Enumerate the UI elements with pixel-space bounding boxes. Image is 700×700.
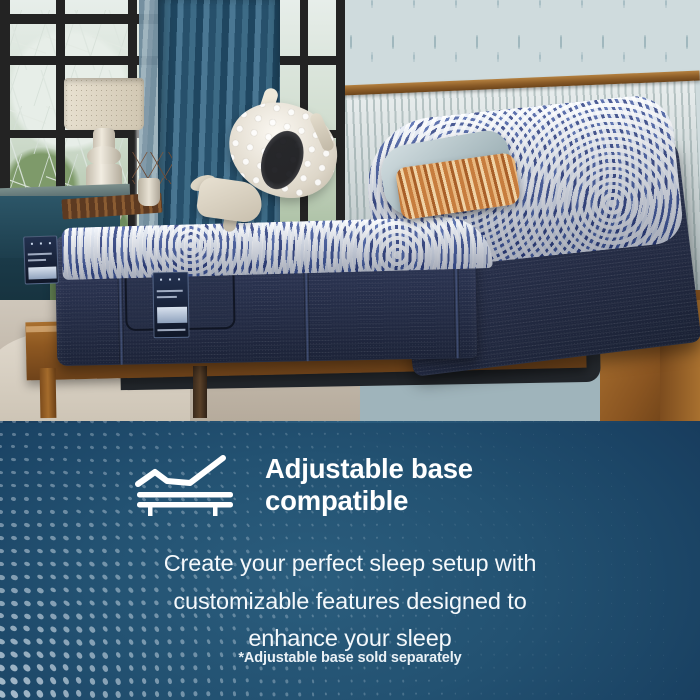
label-line — [157, 329, 185, 331]
label-dots — [157, 277, 183, 282]
bedroom-photo — [0, 0, 700, 421]
adjustable-bed-base-icon — [135, 454, 239, 516]
promo-panel: Adjustable base compatible Create your p… — [0, 421, 700, 700]
promo-heading-row: Adjustable base compatible — [0, 453, 700, 518]
label-line — [28, 253, 52, 256]
promo-footnote: *Adjustable base sold separately — [50, 650, 650, 666]
label-dots — [27, 241, 53, 247]
lamp-shade — [64, 78, 144, 130]
window-mullion — [0, 130, 140, 138]
promo-heading-line-1: Adjustable base — [265, 453, 565, 485]
promo-heading-line-2: compatible — [265, 485, 565, 517]
promo-body: Create your perfect sleep setup with cus… — [50, 545, 650, 658]
bed-leg — [40, 368, 57, 418]
promo-image: Adjustable base compatible Create your p… — [0, 0, 700, 700]
bed-leg — [193, 366, 207, 418]
promo-body-line-1: Create your perfect sleep setup with — [50, 545, 650, 583]
mattress-label — [23, 235, 59, 284]
label-line — [157, 296, 177, 298]
vase — [138, 178, 160, 206]
lamp-ball — [87, 146, 121, 166]
promo-body-line-2: customizable features designed to — [50, 583, 650, 621]
label-line — [28, 259, 46, 262]
label-patch — [28, 266, 56, 279]
mattress-label — [152, 272, 189, 339]
label-line — [157, 290, 183, 292]
promo-heading: Adjustable base compatible — [265, 453, 565, 518]
label-patch — [157, 307, 187, 324]
